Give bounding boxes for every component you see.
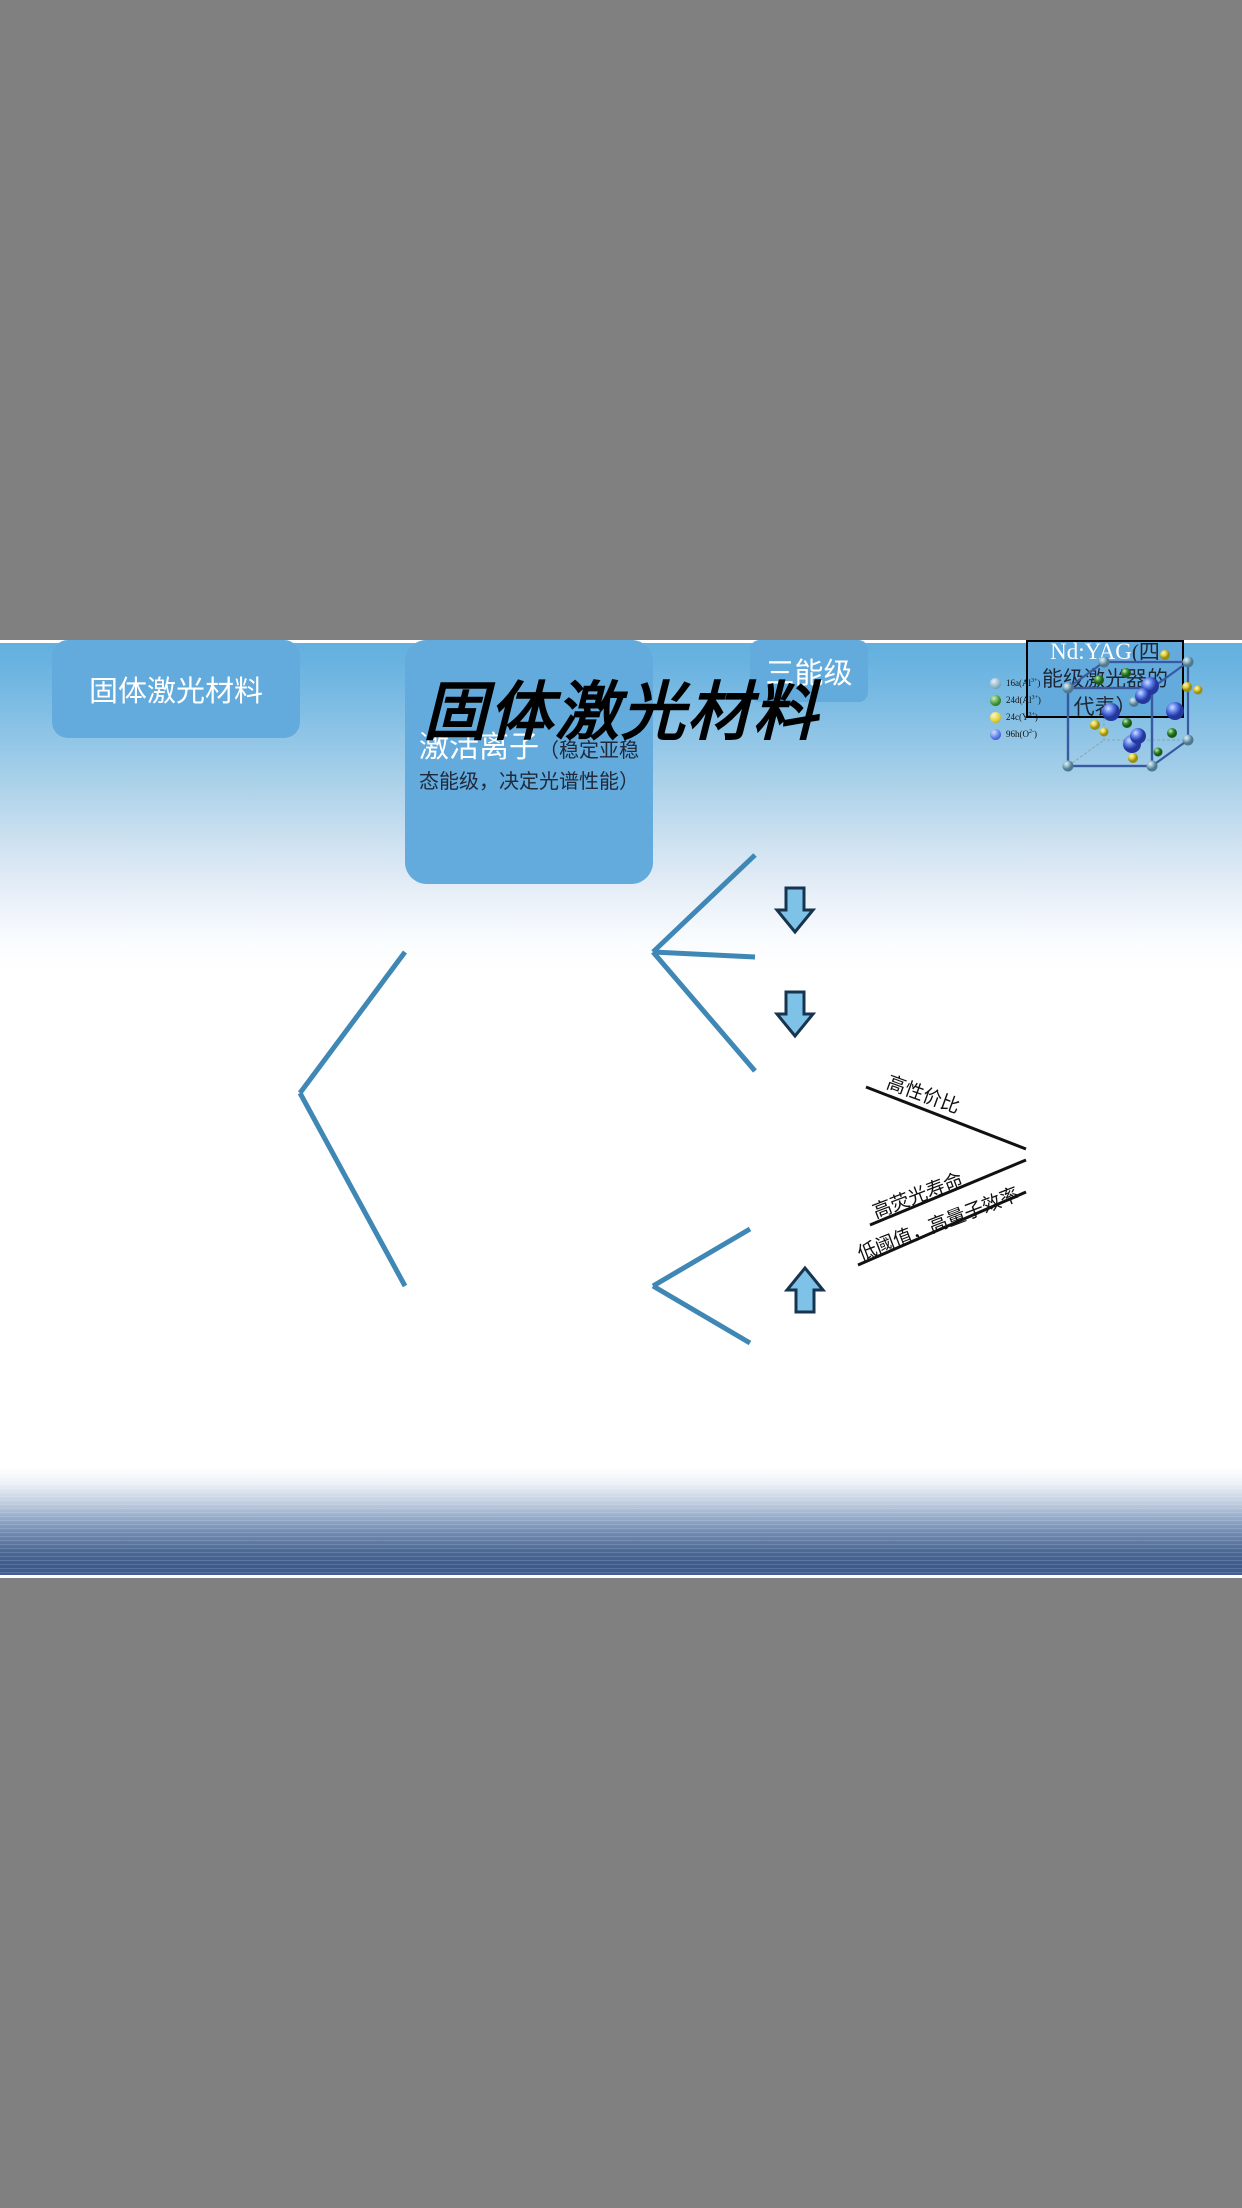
slide-title: 固体激光材料 <box>0 678 1242 748</box>
presentation-slide: 固体激光材料 <box>0 640 1242 1578</box>
edge-label-cost-performance: 高性价比 <box>883 1068 964 1119</box>
mindmap-diagram: 固体激光材料 基质（提供配位场，决定物理化学性质） 激活离子（稳定亚稳态能级，决… <box>0 640 1242 1578</box>
screenshot-root: 固体激光材料 <box>0 0 1242 2208</box>
